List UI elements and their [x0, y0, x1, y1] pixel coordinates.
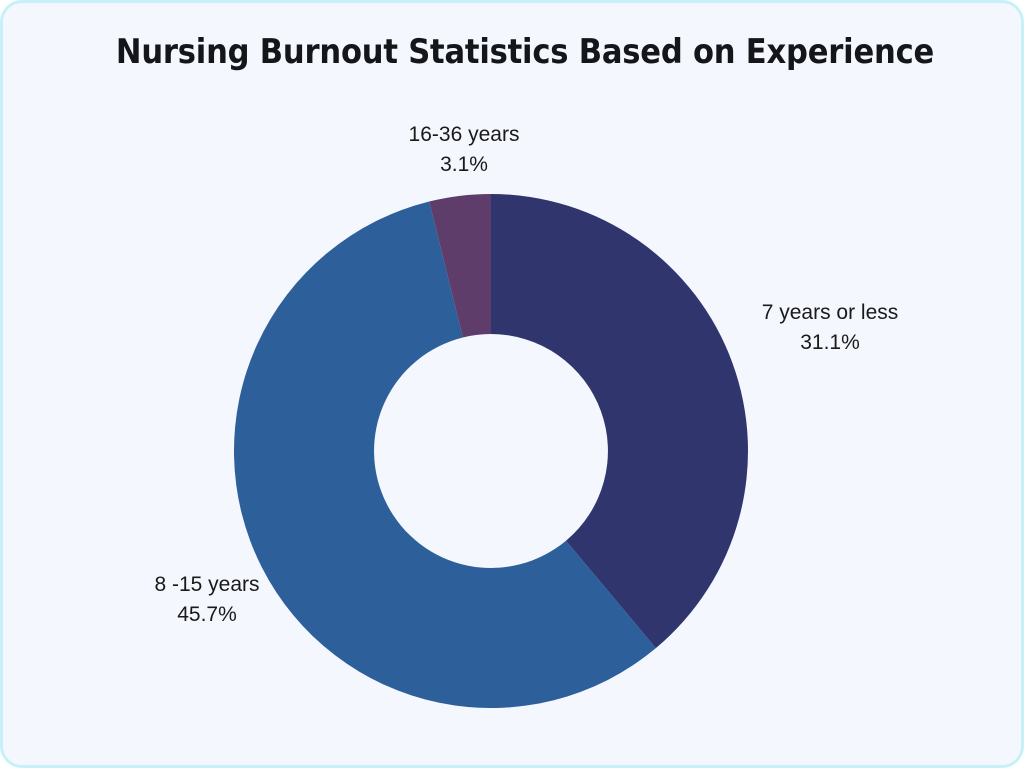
- donut-chart-svg: [3, 3, 1024, 768]
- slice-label-16-36-years: 16-36 years 3.1%: [354, 120, 574, 180]
- chart-canvas: Nursing Burnout Statistics Based on Expe…: [0, 0, 1024, 768]
- slice-label-name: 16-36 years: [354, 120, 574, 150]
- slice-label-name: 8 -15 years: [107, 570, 307, 600]
- slice-label-7-years-or-less: 7 years or less 31.1%: [725, 298, 935, 358]
- donut-slice-group: [234, 194, 748, 708]
- slice-label-8-15-years: 8 -15 years 45.7%: [107, 570, 307, 630]
- slice-label-percent: 31.1%: [725, 328, 935, 358]
- donut-chart: [3, 3, 1024, 768]
- slice-label-percent: 3.1%: [354, 150, 574, 180]
- slice-label-percent: 45.7%: [107, 600, 307, 630]
- slice-label-name: 7 years or less: [725, 298, 935, 328]
